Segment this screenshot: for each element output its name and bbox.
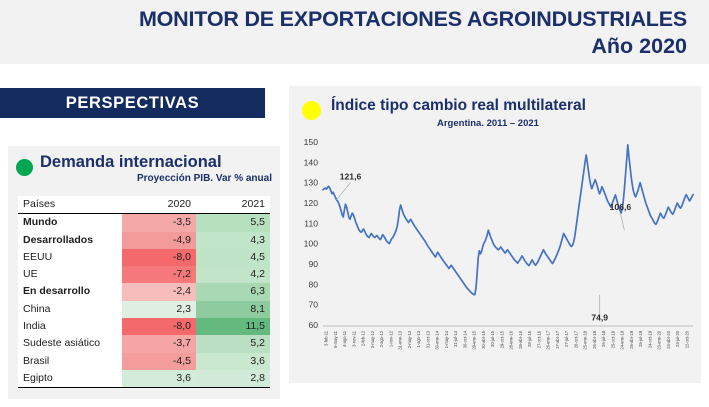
- x-axis-tick: 26-ene-17: [546, 330, 551, 349]
- x-axis-tick: 24-oct-19: [647, 330, 652, 348]
- x-axis-tick: 3-feb-11: [324, 330, 329, 346]
- x-axis-tick: 2-feb-12: [361, 330, 366, 346]
- chart-title: Índice tipo cambio real multilateral: [331, 97, 586, 115]
- column-header-2020: 2020: [122, 196, 196, 214]
- table-row: Brasil-4,53,6: [18, 353, 270, 370]
- table-head: Países 2020 2021: [18, 196, 270, 214]
- cell-value-2020: 2,3: [122, 301, 196, 318]
- y-axis-tick: 80: [308, 279, 318, 289]
- cell-value-2020: -4,5: [122, 353, 196, 370]
- x-axis-tick: 25-oct-18: [610, 330, 615, 348]
- column-header-2021: 2021: [196, 196, 270, 214]
- x-axis-tick: 26-oct-17: [573, 330, 578, 348]
- x-axis-tick: 4-ago-11: [342, 330, 347, 347]
- x-axis-tick: 27-oct-16: [536, 330, 541, 348]
- x-axis-tick: 27-abr-17: [555, 330, 560, 348]
- x-axis-tick: 25-abr-19: [629, 330, 634, 348]
- cell-value-2021: 2,8: [196, 370, 270, 388]
- table-row: EEUU-8,04,5: [18, 249, 270, 266]
- green-circle-bullet-icon: [16, 159, 33, 176]
- x-axis-tick: 24-ene-19: [620, 330, 625, 349]
- cell-value-2021: 3,6: [196, 353, 270, 370]
- x-axis-tick-labels: 3-feb-115-may-114-ago-113-nov-112-feb-12…: [324, 330, 690, 349]
- x-axis-tick: 31-jul-14: [453, 330, 458, 347]
- x-axis-tick: 22-oct-20: [684, 330, 689, 348]
- section-banner-perspectivas: PERSPECTIVAS: [0, 88, 265, 118]
- x-axis-tick: 25-jul-19: [638, 330, 643, 347]
- x-axis-tick: 5-may-11: [333, 330, 338, 348]
- cell-value-2021: 4,2: [196, 266, 270, 283]
- cell-country: Mundo: [18, 214, 122, 232]
- chart-annotations: 121,674,9106,6143,6148,6124,1: [337, 136, 702, 323]
- table-row: Egipto3,62,8: [18, 370, 270, 388]
- cell-value-2020: -3,7: [122, 335, 196, 352]
- cell-country: UE: [18, 266, 122, 283]
- page-subtitle-year: Año 2020: [0, 33, 687, 59]
- pib-projection-table: Países 2020 2021 Mundo-3,55,5Desarrollad…: [18, 196, 270, 388]
- x-axis-tick: 26-jul-18: [601, 330, 606, 347]
- cell-value-2020: 3,6: [122, 370, 196, 388]
- annotation-label: 106,6: [610, 202, 632, 212]
- column-header-paises: Países: [18, 196, 122, 214]
- x-axis-tick: 30-ene-14: [435, 330, 440, 349]
- x-axis-tick: 1-ago-13: [416, 330, 421, 347]
- cell-value-2021: 11,5: [196, 318, 270, 335]
- x-axis-tick: 23-ene-20: [657, 330, 662, 349]
- x-axis-tick: 23-abr-20: [666, 330, 671, 348]
- x-axis-tick: 31-oct-13: [425, 330, 430, 348]
- chart-panel: Índice tipo cambio real multilateral Arg…: [289, 86, 701, 383]
- x-axis-tick: 28-ene-16: [509, 330, 514, 349]
- demanda-header: Demanda internacional Proyección PIB. Va…: [8, 146, 280, 188]
- table-row: Desarrollados-4,94,3: [18, 232, 270, 249]
- cell-country: Sudeste asiático: [18, 335, 122, 352]
- x-axis-tick: 28-jul-16: [527, 330, 532, 347]
- x-axis-tick: 29-oct-15: [499, 330, 504, 348]
- x-axis-tick: 1-may-14: [444, 330, 449, 348]
- yellow-circle-bullet-icon: [302, 101, 321, 120]
- itcrm-series-line: [323, 145, 693, 295]
- table-row: UE-7,24,2: [18, 266, 270, 283]
- cell-country: Egipto: [18, 370, 122, 388]
- y-axis-tick: 90: [308, 259, 318, 269]
- annotation-label: 74,9: [591, 313, 608, 323]
- table-row: India-8,011,5: [18, 318, 270, 335]
- section-banner-label: PERSPECTIVAS: [66, 94, 199, 113]
- cell-value-2020: -2,4: [122, 283, 196, 300]
- x-axis-tick: 28-abr-16: [518, 330, 523, 348]
- x-axis-tick: 27-jul-17: [564, 330, 569, 347]
- x-axis-tick: 3-nov-11: [351, 330, 356, 347]
- cell-value-2021: 4,3: [196, 232, 270, 249]
- x-axis-tick: 23-jul-20: [675, 330, 680, 347]
- cell-country: China: [18, 301, 122, 318]
- cell-country: En desarrollo: [18, 283, 122, 300]
- x-axis-tick: 30-jul-15: [490, 330, 495, 347]
- chart-subtitle: Argentina. 2011 – 2021: [437, 118, 539, 129]
- table-row: Mundo-3,55,5: [18, 214, 270, 232]
- y-axis-tick: 130: [304, 178, 319, 188]
- x-axis-tick: 3-may-12: [370, 330, 375, 348]
- demanda-subtitle: Proyección PIB. Var % anual: [137, 173, 272, 184]
- table-row: China2,38,1: [18, 301, 270, 318]
- cell-value-2021: 4,5: [196, 249, 270, 266]
- cell-country: Brasil: [18, 353, 122, 370]
- y-axis-tick: 150: [304, 137, 319, 147]
- page-header: MONITOR DE EXPORTACIONES AGROINDUSTRIALE…: [0, 0, 709, 64]
- y-axis-tick: 100: [304, 239, 319, 249]
- x-axis-tick: 2-ago-12: [379, 330, 384, 347]
- x-axis-tick: 25-ene-18: [583, 330, 588, 349]
- y-axis-tick: 70: [308, 300, 318, 310]
- y-axis-tick: 110: [304, 218, 318, 228]
- table-row: En desarrollo-2,46,3: [18, 283, 270, 300]
- x-axis-tick: 2-may-13: [407, 330, 412, 348]
- x-axis-tick: 29-ene-15: [472, 330, 477, 349]
- y-axis-tick-labels: 60708090100110120130140150: [304, 137, 319, 330]
- cell-country: Desarrollados: [18, 232, 122, 249]
- table-row: Sudeste asiático-3,75,2: [18, 335, 270, 352]
- cell-value-2020: -8,0: [122, 318, 196, 335]
- x-axis-tick: 1-nov-12: [388, 330, 393, 347]
- cell-country: India: [18, 318, 122, 335]
- table-header-row: Países 2020 2021: [18, 196, 270, 214]
- cell-value-2020: -4,9: [122, 232, 196, 249]
- itcrm-line-chart: 60708090100110120130140150 3-feb-115-may…: [289, 136, 701, 383]
- cell-value-2021: 5,5: [196, 214, 270, 232]
- x-axis-tick: 30-oct-14: [462, 330, 467, 348]
- x-axis-tick: 31-ene-13: [398, 330, 403, 349]
- cell-country: EEUU: [18, 249, 122, 266]
- x-axis-tick: 26-abr-18: [592, 330, 597, 348]
- y-axis-tick: 60: [308, 320, 318, 330]
- demanda-title: Demanda internacional: [40, 153, 222, 172]
- annotation-leader-line: [337, 183, 351, 200]
- page-title: MONITOR DE EXPORTACIONES AGROINDUSTRIALE…: [0, 6, 687, 33]
- x-axis-tick: 30-abr-15: [481, 330, 486, 348]
- annotation-leader-line: [620, 213, 624, 230]
- cell-value-2021: 5,2: [196, 335, 270, 352]
- y-axis-tick: 140: [304, 157, 319, 167]
- cell-value-2020: -3,5: [122, 214, 196, 232]
- annotation-label: 121,6: [340, 172, 362, 182]
- cell-value-2020: -7,2: [122, 266, 196, 283]
- cell-value-2021: 8,1: [196, 301, 270, 318]
- slide-root: MONITOR DE EXPORTACIONES AGROINDUSTRIALE…: [0, 0, 709, 407]
- table-body: Mundo-3,55,5Desarrollados-4,94,3EEUU-8,0…: [18, 214, 270, 388]
- y-axis-tick: 120: [304, 198, 319, 208]
- cell-value-2020: -8,0: [122, 249, 196, 266]
- cell-value-2021: 6,3: [196, 283, 270, 300]
